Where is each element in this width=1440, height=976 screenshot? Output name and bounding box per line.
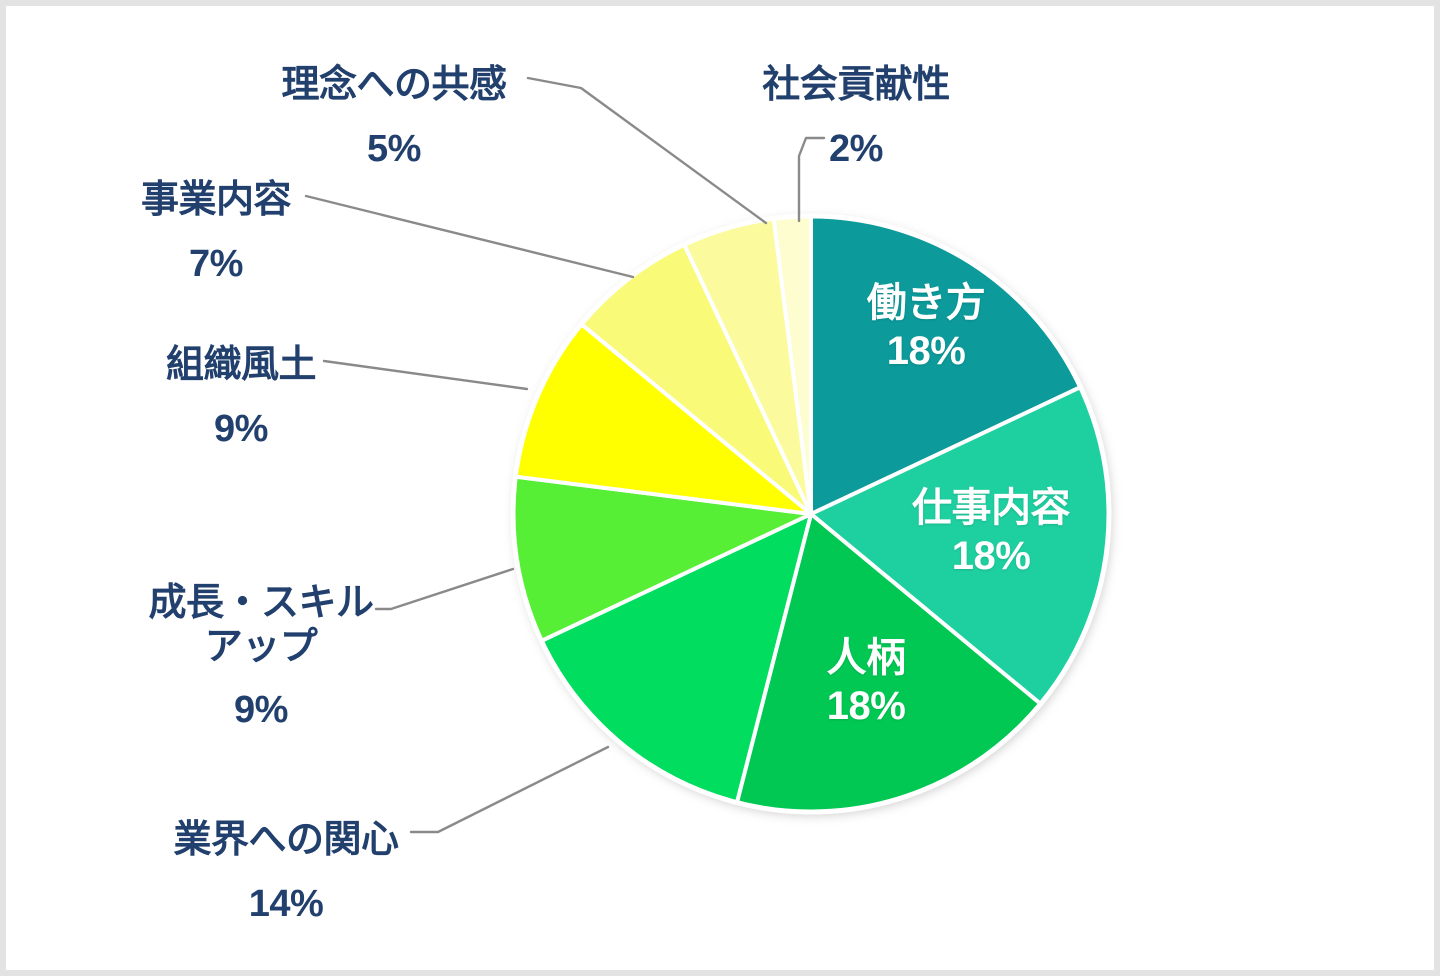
callout-pct-jigyo-naiyo: 7%	[66, 243, 366, 286]
callout-name-soshiki-fudo: 組織風土	[91, 344, 391, 387]
callout-pct-gyokai-heno-kanshin: 14%	[116, 883, 456, 926]
callout-pct-shakai-kokensei: 2%	[706, 128, 1006, 171]
callout-name-shakai-kokensei: 社会貢献性	[706, 64, 1006, 107]
inner-label-hatarakikata: 働き方 18%	[806, 281, 1046, 374]
callout-name-seicho-skill-up: 成長・スキル アップ	[106, 582, 416, 669]
callout-label-gyokai-heno-kanshin: 業界への関心 14%	[116, 801, 456, 944]
callout-label-seicho-skill-up: 成長・スキル アップ 9%	[106, 564, 416, 751]
callout-label-soshiki-fudo: 組織風土 9%	[91, 326, 391, 469]
inner-name-hatarakikata: 働き方	[806, 281, 1046, 326]
inner-pct-hitogara: 18%	[746, 684, 986, 729]
inner-pct-shigoto-naiyo: 18%	[866, 534, 1116, 579]
inner-pct-hatarakikata: 18%	[806, 329, 1046, 374]
callout-name-jigyo-naiyo: 事業内容	[66, 179, 366, 222]
inner-label-shigoto-naiyo: 仕事内容 18%	[866, 486, 1116, 579]
inner-label-hitogara: 人柄 18%	[746, 636, 986, 729]
callout-label-shakai-kokensei: 社会貢献性 2%	[706, 46, 1006, 189]
inner-name-hitogara: 人柄	[746, 636, 986, 681]
callout-label-jigyo-naiyo: 事業内容 7%	[66, 161, 366, 304]
chart-canvas: 理念への共感 5% 社会貢献性 2% 事業内容 7% 組織風土 9% 成長・スキ…	[0, 0, 1440, 976]
inner-name-shigoto-naiyo: 仕事内容	[866, 486, 1116, 531]
callout-name-rinen-heno-kyokan: 理念への共感	[234, 64, 554, 107]
callout-pct-soshiki-fudo: 9%	[91, 408, 391, 451]
callout-pct-seicho-skill-up: 9%	[106, 689, 416, 732]
callout-name-gyokai-heno-kanshin: 業界への関心	[116, 819, 456, 862]
